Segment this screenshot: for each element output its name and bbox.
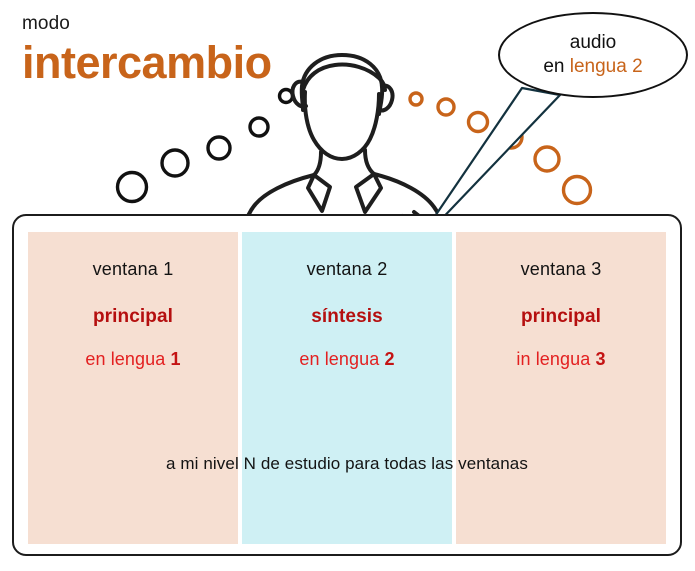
window-language-prefix-2: en lengua — [299, 349, 384, 369]
window-language-number-2: 2 — [384, 349, 394, 369]
window-column-ventana-1[interactable]: ventana 1 principal en lengua 1 — [28, 232, 238, 544]
window-label-3: ventana 3 — [456, 259, 666, 280]
window-mode-2: síntesis — [242, 306, 452, 328]
speech-bubble-highlight: lengua 2 — [570, 56, 643, 77]
window-label-2: ventana 2 — [242, 259, 452, 280]
page-title: intercambio — [22, 39, 322, 86]
window-column-ventana-2[interactable]: ventana 2 síntesis en lengua 2 — [242, 232, 452, 544]
window-language-prefix-1: en lengua — [85, 349, 170, 369]
thought-bubbles-black-icon — [118, 90, 293, 202]
speech-bubble-line-2: en lengua 2 — [543, 55, 642, 79]
page-header: modo intercambio — [22, 14, 322, 86]
thought-bubbles-orange-icon — [410, 93, 591, 204]
window-language-1: en lengua 1 — [28, 349, 238, 370]
window-language-prefix-3: in lengua — [516, 349, 595, 369]
window-language-number-3: 3 — [595, 349, 605, 369]
window-language-3: in lengua 3 — [456, 349, 666, 370]
speech-bubble-prefix: en — [543, 56, 569, 77]
window-column-ventana-3[interactable]: ventana 3 principal in lengua 3 — [456, 232, 666, 544]
windows-diagram-panel: ventana 1 principal en lengua 1 ventana … — [12, 214, 682, 556]
window-mode-3: principal — [456, 306, 666, 328]
window-language-number-1: 1 — [170, 349, 180, 369]
speech-bubble: audio en lengua 2 — [498, 12, 688, 98]
window-label-1: ventana 1 — [28, 259, 238, 280]
window-language-2: en lengua 2 — [242, 349, 452, 370]
window-mode-1: principal — [28, 306, 238, 328]
windows-columns-row: ventana 1 principal en lengua 1 ventana … — [28, 232, 666, 544]
page-eyebrow: modo — [22, 14, 322, 35]
diagram-footer-note: a mi nivel N de estudio para todas las v… — [14, 454, 680, 474]
speech-bubble-line-1: audio — [570, 31, 617, 55]
